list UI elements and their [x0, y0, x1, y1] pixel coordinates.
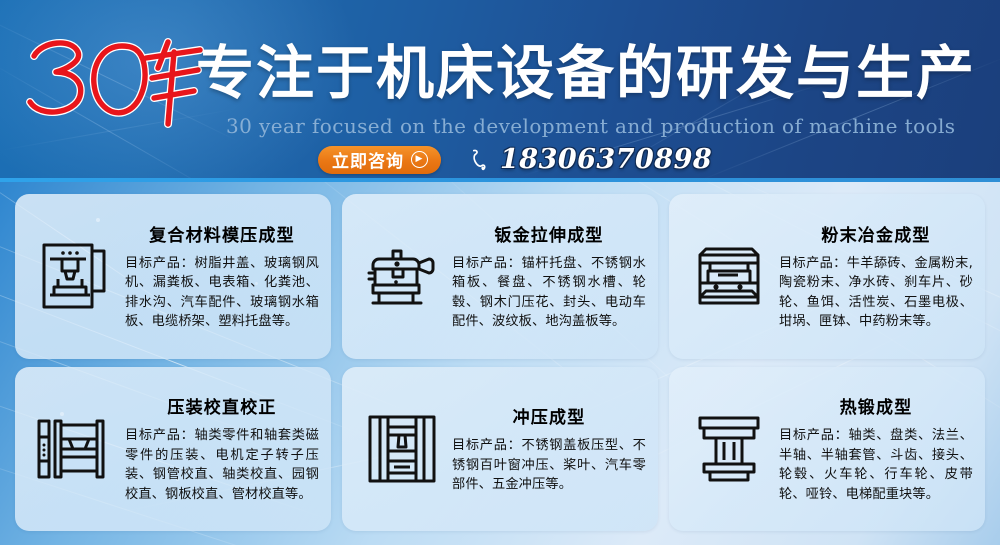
card-description: 目标产品：轴类、盘类、法兰、半轴、半轴套管、斗齿、接头、轮毂、火车轮、行车轮、皮… [779, 426, 973, 504]
brand-years-logo [18, 28, 208, 132]
card-sheet-metal-drawing[interactable]: 钣金拉伸成型 目标产品：锚杆托盘、不锈钢水箱板、餐盘、不锈钢水槽、轮毂、钢木门压… [342, 194, 658, 359]
card-title: 粉末冶金成型 [779, 221, 973, 246]
consult-now-button[interactable]: 立即咨询 ▶ [318, 146, 441, 174]
banner-root: 专注于机床设备的研发与生产 30 year focused on the dev… [0, 0, 1000, 545]
stamping-press-icon [356, 413, 448, 485]
powder-metallurgy-press-icon [683, 239, 775, 313]
card-text: 钣金拉伸成型 目标产品：锚杆托盘、不锈钢水箱板、餐盘、不锈钢水槽、轮毂、钢木门压… [448, 221, 646, 332]
card-title: 热锻成型 [779, 393, 973, 418]
deep-drawing-press-icon [356, 239, 448, 313]
card-description: 目标产品：牛羊舔砖、金属粉末,陶瓷粉末、净水砖、刹车片、砂轮、鱼饵、活性炭、石墨… [779, 254, 973, 332]
card-powder-metallurgy[interactable]: 粉末冶金成型 目标产品：牛羊舔砖、金属粉末,陶瓷粉末、净水砖、刹车片、砂轮、鱼饵… [669, 194, 985, 359]
straightening-press-icon [29, 415, 121, 483]
card-title: 冲压成型 [452, 403, 646, 428]
card-description: 目标产品：锚杆托盘、不锈钢水箱板、餐盘、不锈钢水槽、轮毂、钢木门压花、封头、电动… [452, 254, 646, 332]
card-text: 复合材料模压成型 目标产品：树脂井盖、玻璃钢风机、漏粪板、电表箱、化粪池、排水沟… [121, 221, 319, 332]
banner-header: 专注于机床设备的研发与生产 30 year focused on the dev… [0, 0, 1000, 182]
card-composite-molding[interactable]: 复合材料模压成型 目标产品：树脂井盖、玻璃钢风机、漏粪板、电表箱、化粪池、排水沟… [15, 194, 331, 359]
forging-press-icon [683, 412, 775, 486]
card-title: 压装校直校正 [125, 393, 319, 418]
card-text: 冲压成型 目标产品：不锈钢盖板压型、不锈钢百叶窗冲压、桨叶、汽车零部件、五金冲压… [448, 403, 646, 495]
card-description: 目标产品：轴类零件和轴套类磁零件的压装、电机定子转子压装、钢管校直、轴类校直、园… [125, 426, 319, 504]
card-press-fitting-straightening[interactable]: 压装校直校正 目标产品：轴类零件和轴套类磁零件的压装、电机定子转子压装、钢管校直… [15, 367, 331, 532]
telephone-handset-icon [467, 148, 491, 172]
card-text: 粉末冶金成型 目标产品：牛羊舔砖、金属粉末,陶瓷粉末、净水砖、刹车片、砂轮、鱼饵… [775, 221, 973, 332]
card-hot-forging[interactable]: 热锻成型 目标产品：轴类、盘类、法兰、半轴、半轴套管、斗齿、接头、轮毂、火车轮、… [669, 367, 985, 532]
card-description: 目标产品：树脂井盖、玻璃钢风机、漏粪板、电表箱、化粪池、排水沟、汽车配件、玻璃钢… [125, 254, 319, 332]
phone-number: 18306370898 [500, 144, 712, 175]
card-title: 钣金拉伸成型 [452, 221, 646, 246]
cta-row: 立即咨询 ▶ 18306370898 [318, 144, 712, 175]
card-description: 目标产品：不锈钢盖板压型、不锈钢百叶窗冲压、桨叶、汽车零部件、五金冲压等。 [452, 436, 646, 495]
card-title: 复合材料模压成型 [125, 221, 319, 246]
card-stamping-forming[interactable]: 冲压成型 目标产品：不锈钢盖板压型、不锈钢百叶窗冲压、桨叶、汽车零部件、五金冲压… [342, 367, 658, 532]
card-text: 热锻成型 目标产品：轴类、盘类、法兰、半轴、半轴套管、斗齿、接头、轮毂、火车轮、… [775, 393, 973, 504]
subheadline: 30 year focused on the development and p… [226, 114, 955, 138]
play-arrow-icon: ▶ [411, 151, 428, 168]
phone-block[interactable]: 18306370898 [467, 144, 712, 175]
headline: 专注于机床设备的研发与生产 [196, 40, 976, 106]
product-card-grid: 复合材料模压成型 目标产品：树脂井盖、玻璃钢风机、漏粪板、电表箱、化粪池、排水沟… [0, 182, 1000, 545]
card-text: 压装校直校正 目标产品：轴类零件和轴套类磁零件的压装、电机定子转子压装、钢管校直… [121, 393, 319, 504]
cta-label: 立即咨询 [332, 147, 404, 172]
hydraulic-press-machine-icon [29, 239, 121, 313]
